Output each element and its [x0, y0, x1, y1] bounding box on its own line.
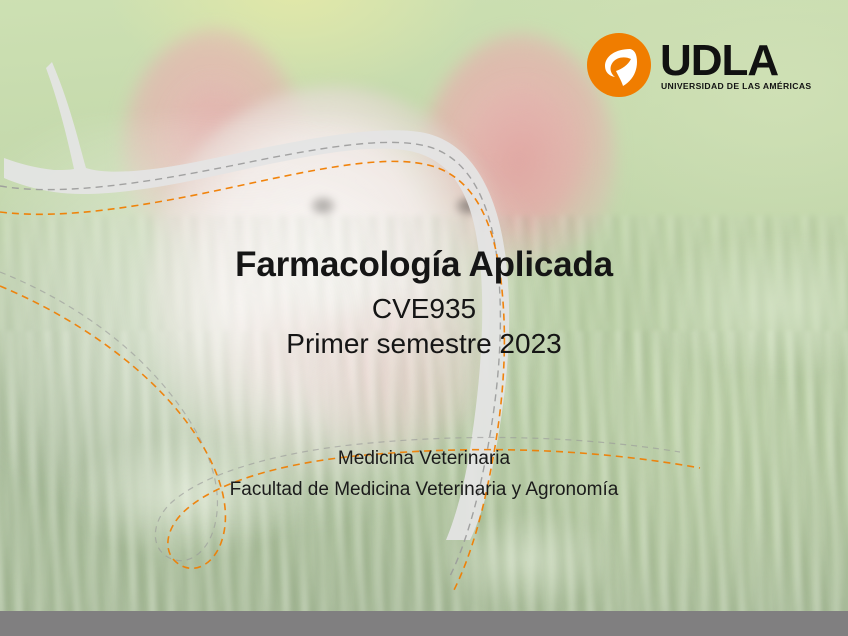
- udla-wordmark: UDLA UNIVERSIDAD DE LAS AMÉRICAS: [660, 35, 820, 95]
- subtitle-block: Medicina Veterinaria Facultad de Medicin…: [0, 444, 848, 506]
- slide-title: Farmacología Aplicada: [0, 246, 848, 283]
- title-block: Farmacología Aplicada CVE935 Primer seme…: [0, 246, 848, 362]
- academic-term: Primer semestre 2023: [0, 326, 848, 361]
- udla-tagline-text: UNIVERSIDAD DE LAS AMÉRICAS: [661, 81, 811, 91]
- course-code: CVE935: [0, 291, 848, 326]
- udla-logo: UDLA UNIVERSIDAD DE LAS AMÉRICAS: [586, 32, 820, 98]
- udla-leaf-circle-icon: [586, 32, 652, 98]
- udla-wordmark-text: UDLA: [660, 36, 778, 85]
- bottom-gray-bar: [0, 611, 848, 636]
- presentation-title-slide: UDLA UNIVERSIDAD DE LAS AMÉRICAS Farmaco…: [0, 0, 848, 636]
- faculty-name: Facultad de Medicina Veterinaria y Agron…: [0, 475, 848, 506]
- program-name: Medicina Veterinaria: [0, 444, 848, 475]
